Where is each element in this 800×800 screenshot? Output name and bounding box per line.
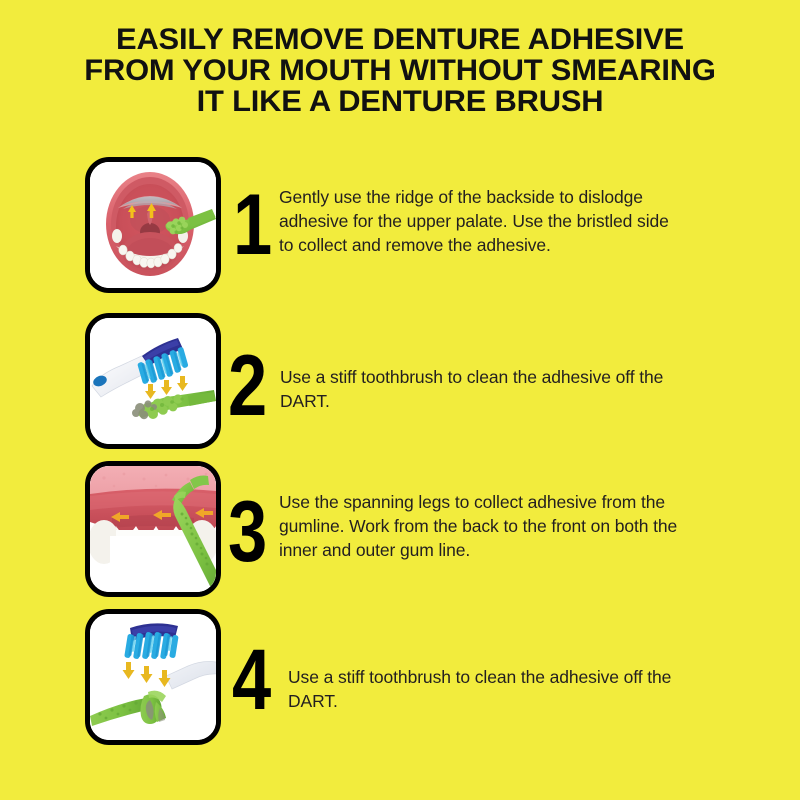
step-3-text: Use the spanning legs to collect adhesiv… bbox=[279, 490, 679, 562]
open-mouth-dart-icon bbox=[90, 162, 216, 288]
step-2-number: 2 bbox=[228, 343, 267, 429]
toothbrush-cleaning-dart-icon bbox=[90, 318, 216, 444]
instruction-step-2: 2 Use a stiff toothbrush to clean the ad… bbox=[0, 313, 800, 453]
step-2-text: Use a stiff toothbrush to clean the adhe… bbox=[280, 365, 680, 413]
instruction-step-3: 3 Use the spanning legs to collect adhes… bbox=[0, 461, 800, 601]
step-3-number: 3 bbox=[228, 489, 267, 575]
title-line-2: FROM YOUR MOUTH WITHOUT SMEARING bbox=[0, 55, 800, 86]
step-2-illustration-panel bbox=[85, 313, 221, 449]
toothbrush-cleaning-dart-y-icon bbox=[90, 614, 216, 740]
step-1-illustration-panel bbox=[85, 157, 221, 293]
title-line-3: IT LIKE A DENTURE BRUSH bbox=[0, 86, 800, 117]
step-4-number: 4 bbox=[232, 637, 271, 723]
step-1-text: Gently use the ridge of the backside to … bbox=[279, 185, 679, 257]
instruction-step-4: 4 Use a stiff toothbrush to clean the ad… bbox=[0, 609, 800, 749]
title-line-1: EASILY REMOVE DENTURE ADHESIVE bbox=[0, 24, 800, 55]
step-1-number: 1 bbox=[233, 182, 272, 268]
step-4-text: Use a stiff toothbrush to clean the adhe… bbox=[288, 665, 688, 713]
step-3-illustration-panel bbox=[85, 461, 221, 597]
instruction-step-1: 1 Gently use the ridge of the backside t… bbox=[0, 157, 800, 297]
gumline-dart-legs-icon bbox=[90, 466, 216, 592]
step-4-illustration-panel bbox=[85, 609, 221, 745]
page-title: EASILY REMOVE DENTURE ADHESIVE FROM YOUR… bbox=[0, 24, 800, 117]
